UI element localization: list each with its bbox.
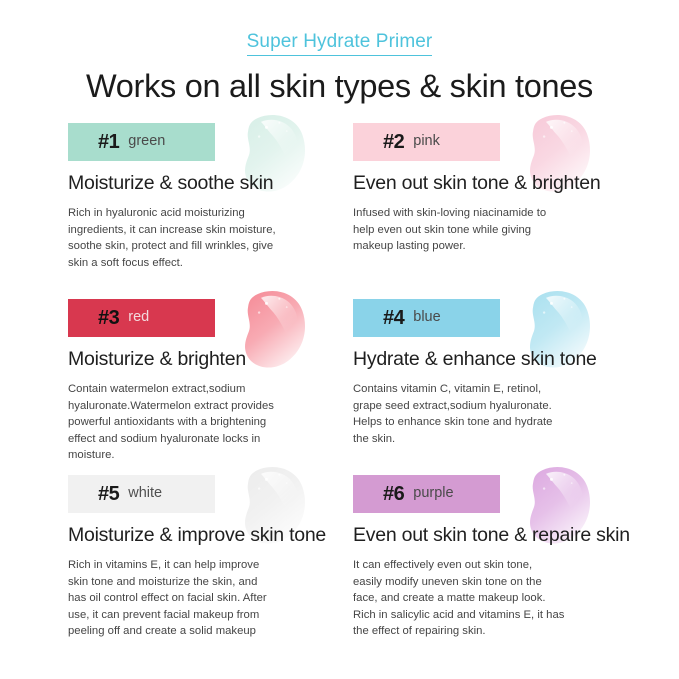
product-number: #5 <box>98 484 119 504</box>
description-line: Contains vitamin C, vitamin E, retinol, <box>353 381 598 398</box>
description-line: peeling off and create a solid makeup <box>68 623 313 640</box>
product-heading: Even out skin tone & brighten <box>353 172 638 194</box>
description-line: skin a soft focus effect. <box>68 255 313 272</box>
description-line: easily modify uneven skin tone on the <box>353 574 598 591</box>
product-number: #4 <box>383 308 404 328</box>
product-description: It can effectively even out skin tone,ea… <box>353 557 598 640</box>
description-line: has oil control effect on facial skin. A… <box>68 590 313 607</box>
product-description: Contains vitamin C, vitamin E, retinol,g… <box>353 381 598 447</box>
product-color-name: pink <box>413 134 440 149</box>
description-line: Rich in vitamins E, it can help improve <box>68 557 313 574</box>
description-line: grape seed extract,sodium hyaluronate. <box>353 398 598 415</box>
product-color-name: red <box>128 310 149 325</box>
description-line: face, and create a matte makeup look. <box>353 590 598 607</box>
description-line: Contain watermelon extract,sodium <box>68 381 313 398</box>
description-line: soothe skin, protect and fill wrinkles, … <box>68 238 313 255</box>
product-badge: #6 purple <box>353 475 500 513</box>
product-heading: Moisturize & improve skin tone <box>68 524 353 546</box>
product-color-name: white <box>128 486 162 501</box>
description-line: It can effectively even out skin tone, <box>353 557 598 574</box>
product-heading: Hydrate & enhance skin tone <box>353 348 638 370</box>
page-subtitle: Super Hydrate Primer <box>247 31 433 56</box>
description-line: Rich in salicylic acid and vitamins E, i… <box>353 607 598 624</box>
description-line: moisture. <box>68 447 313 464</box>
product-card-white: #5 white Moisturize & improve skin tone … <box>68 475 353 651</box>
product-number: #1 <box>98 132 119 152</box>
product-number: #3 <box>98 308 119 328</box>
product-badge: #2 pink <box>353 123 500 161</box>
product-infographic-page: Super Hydrate Primer Works on all skin t… <box>0 0 679 679</box>
product-heading: Moisturize & brighten <box>68 348 353 370</box>
product-badge: #1 green <box>68 123 215 161</box>
description-line: Infused with skin-loving niacinamide to <box>353 205 598 222</box>
description-line: powerful antioxidants with a brightening <box>68 414 313 431</box>
product-description: Rich in hyaluronic acid moisturizingingr… <box>68 205 313 271</box>
description-line: ingredients, it can increase skin moistu… <box>68 222 313 239</box>
description-line: hyaluronate.Watermelon extract provides <box>68 398 313 415</box>
page-title: Works on all skin types & skin tones <box>0 69 679 105</box>
product-description: Rich in vitamins E, it can help improves… <box>68 557 313 640</box>
product-card-green: #1 green Moisturize & soothe skin Rich i… <box>68 123 353 299</box>
product-card-purple: #6 purple Even out skin tone & repaire s… <box>353 475 638 651</box>
product-color-name: green <box>128 134 165 149</box>
product-description: Infused with skin-loving niacinamide toh… <box>353 205 598 255</box>
product-heading: Even out skin tone & repaire skin <box>353 524 638 546</box>
product-grid: #1 green Moisturize & soothe skin Rich i… <box>0 123 679 651</box>
product-number: #6 <box>383 484 404 504</box>
description-line: the effect of repairing skin. <box>353 623 598 640</box>
product-color-name: purple <box>413 486 453 501</box>
page-header: Super Hydrate Primer Works on all skin t… <box>0 0 679 105</box>
product-badge: #3 red <box>68 299 215 337</box>
product-description: Contain watermelon extract,sodiumhyaluro… <box>68 381 313 464</box>
product-color-name: blue <box>413 310 440 325</box>
product-badge: #5 white <box>68 475 215 513</box>
description-line: the skin. <box>353 431 598 448</box>
description-line: effect and sodium hyaluronate locks in <box>68 431 313 448</box>
description-line: use, it can prevent facial makeup from <box>68 607 313 624</box>
product-badge: #4 blue <box>353 299 500 337</box>
product-heading: Moisturize & soothe skin <box>68 172 353 194</box>
product-card-blue: #4 blue Hydrate & enhance skin tone Cont… <box>353 299 638 475</box>
description-line: help even out skin tone while giving <box>353 222 598 239</box>
product-number: #2 <box>383 132 404 152</box>
description-line: makeup lasting power. <box>353 238 598 255</box>
product-card-pink: #2 pink Even out skin tone & brighten In… <box>353 123 638 299</box>
description-line: skin tone and moisturize the skin, and <box>68 574 313 591</box>
product-card-red: #3 red Moisturize & brighten Contain wat… <box>68 299 353 475</box>
description-line: Rich in hyaluronic acid moisturizing <box>68 205 313 222</box>
description-line: Helps to enhance skin tone and hydrate <box>353 414 598 431</box>
